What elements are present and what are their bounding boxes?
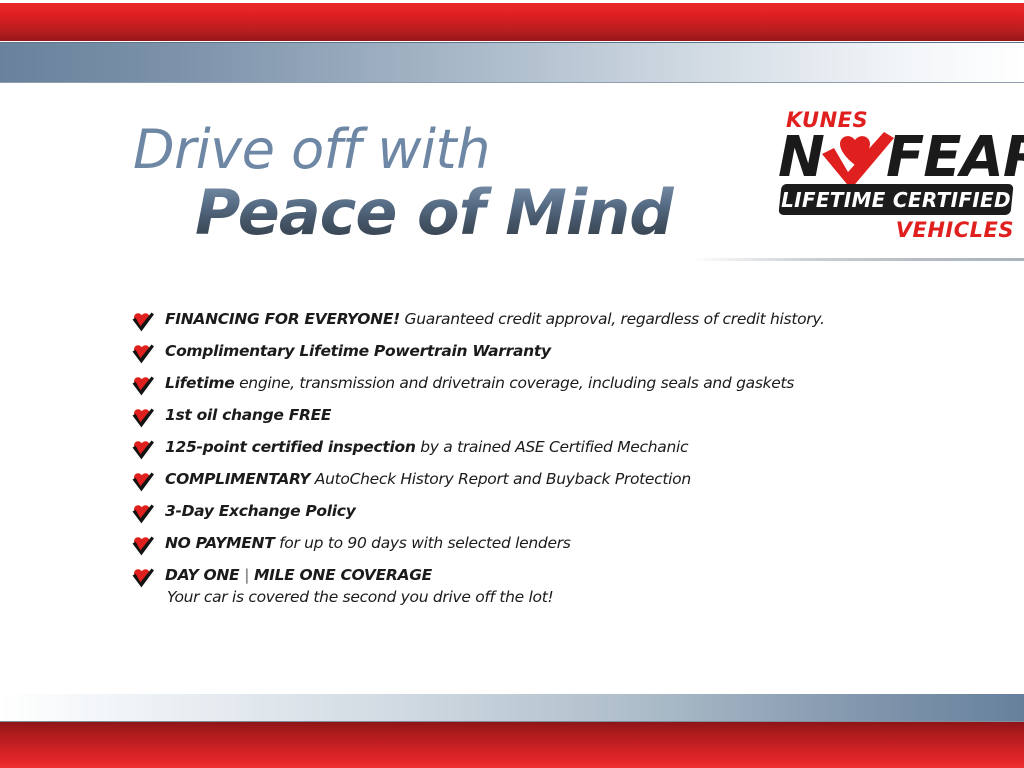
promo-page: Drive off with Peace of Mind KUNES N FEA… bbox=[0, 0, 1024, 768]
benefit-rest: Guaranteed credit approval, regardless o… bbox=[400, 310, 825, 328]
benefit-text: Complimentary Lifetime Powertrain Warran… bbox=[165, 341, 931, 362]
benefit-bold: FINANCING FOR EVERYONE! bbox=[165, 310, 400, 328]
benefit-separator: | bbox=[244, 566, 249, 584]
benefit-bold: COMPLIMENTARY bbox=[165, 470, 310, 488]
benefit-bold-mile-one: MILE ONE COVERAGE bbox=[254, 566, 432, 584]
logo-word-fear: FEAR bbox=[886, 130, 1024, 186]
benefit-rest: AutoCheck History Report and Buyback Pro… bbox=[310, 470, 691, 488]
benefit-text: DAY ONE | MILE ONE COVERAGE bbox=[165, 565, 931, 586]
benefit-text: 3-Day Exchange Policy bbox=[165, 501, 931, 522]
heart-check-bullet-icon bbox=[131, 407, 155, 428]
benefit-text: NO PAYMENT for up to 90 days with select… bbox=[165, 533, 931, 554]
benefit-bold: Complimentary Lifetime Powertrain Warran… bbox=[165, 342, 551, 360]
benefit-item: NO PAYMENT for up to 90 days with select… bbox=[131, 533, 931, 565]
benefit-item: FINANCING FOR EVERYONE! Guaranteed credi… bbox=[131, 309, 931, 341]
headline-line-1: Drive off with bbox=[133, 122, 753, 178]
benefit-text: Lifetime engine, transmission and drivet… bbox=[165, 373, 931, 394]
benefit-rest: by a trained ASE Certified Mechanic bbox=[416, 438, 689, 456]
benefit-bold: 3-Day Exchange Policy bbox=[165, 502, 356, 520]
benefit-text: 125-point certified inspection by a trai… bbox=[165, 437, 931, 458]
heart-check-bullet-icon bbox=[131, 375, 155, 396]
benefits-list: FINANCING FOR EVERYONE! Guaranteed credi… bbox=[131, 309, 931, 617]
benefit-bold: Lifetime bbox=[165, 374, 234, 392]
benefit-bold: 1st oil change FREE bbox=[165, 406, 331, 424]
benefit-text: FINANCING FOR EVERYONE! Guaranteed credi… bbox=[165, 309, 931, 330]
headline-block: Drive off with Peace of Mind bbox=[133, 122, 753, 246]
benefit-subtext: Your car is covered the second you drive… bbox=[165, 586, 931, 608]
benefit-item: Lifetime engine, transmission and drivet… bbox=[131, 373, 931, 405]
benefit-item: 125-point certified inspection by a trai… bbox=[131, 437, 931, 469]
benefit-bold: NO PAYMENT bbox=[165, 534, 274, 552]
logo-lifetime-certified-text: LIFETIME CERTIFIED bbox=[780, 184, 1012, 215]
benefit-text: 1st oil change FREE bbox=[165, 405, 931, 426]
benefit-item: 1st oil change FREE bbox=[131, 405, 931, 437]
headline-divider bbox=[690, 258, 1024, 261]
benefit-item: 3-Day Exchange Policy bbox=[131, 501, 931, 533]
headline-line-2: Peace of Mind bbox=[195, 180, 753, 246]
heart-check-bullet-icon bbox=[131, 343, 155, 364]
heart-check-bullet-icon bbox=[131, 503, 155, 524]
top-red-banner-bar bbox=[0, 3, 1024, 41]
heart-check-bullet-icon bbox=[131, 439, 155, 460]
heart-check-bullet-icon bbox=[131, 471, 155, 492]
benefit-rest: for up to 90 days with selected lenders bbox=[274, 534, 570, 552]
benefit-rest: engine, transmission and drivetrain cove… bbox=[234, 374, 794, 392]
benefit-bold-day-one: DAY ONE bbox=[165, 566, 239, 584]
benefit-item: Complimentary Lifetime Powertrain Warran… bbox=[131, 341, 931, 373]
heart-check-icon bbox=[814, 132, 898, 190]
benefit-bold: 125-point certified inspection bbox=[165, 438, 416, 456]
benefit-item: DAY ONE | MILE ONE COVERAGE Your car is … bbox=[131, 565, 931, 617]
heart-check-bullet-icon bbox=[131, 311, 155, 332]
top-steel-banner-bar bbox=[0, 42, 1024, 83]
bottom-steel-banner-bar bbox=[0, 694, 1024, 722]
logo-no-fear-wordmark: N FEAR bbox=[778, 130, 1016, 186]
benefit-text: COMPLIMENTARY AutoCheck History Report a… bbox=[165, 469, 931, 490]
benefit-item: COMPLIMENTARY AutoCheck History Report a… bbox=[131, 469, 931, 501]
heart-check-bullet-icon bbox=[131, 535, 155, 556]
kunes-no-fear-logo: KUNES N FEAR LIFETIME CERTIFIED VEHICLES bbox=[778, 108, 1016, 243]
heart-check-bullet-icon bbox=[131, 567, 155, 588]
logo-word-vehicles: VEHICLES bbox=[896, 218, 1014, 242]
bottom-red-banner-bar bbox=[0, 722, 1024, 768]
